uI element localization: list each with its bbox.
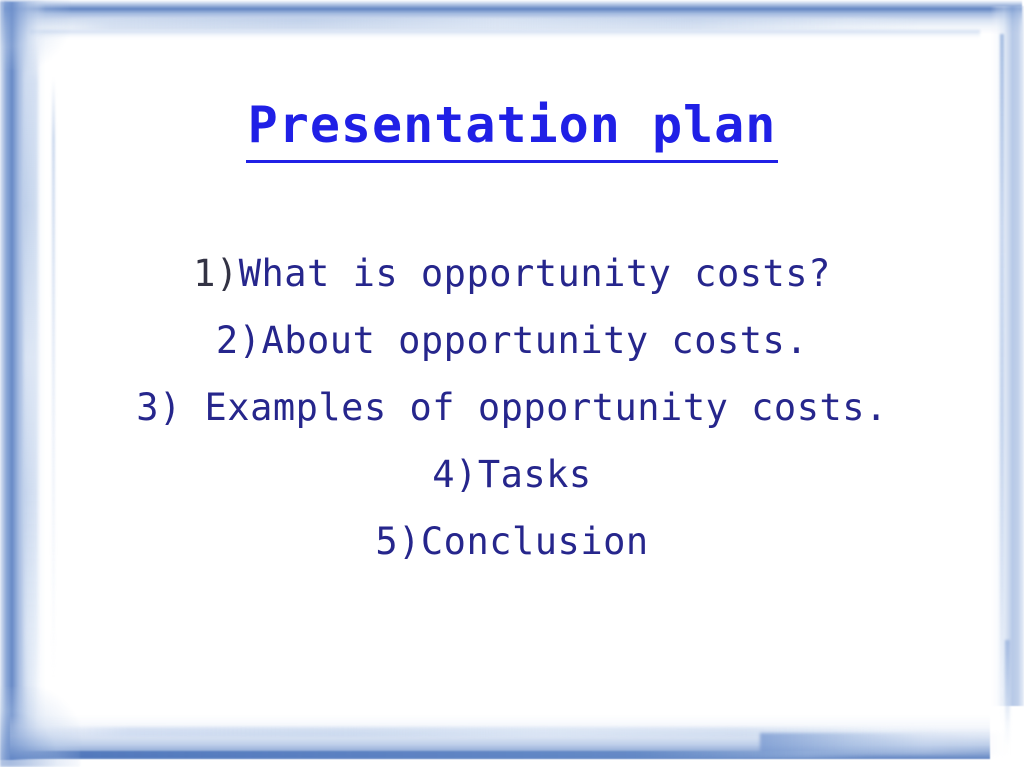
list-item-label: About opportunity costs. <box>261 319 808 362</box>
list-item: 2)About opportunity costs. <box>56 307 968 374</box>
frame-bottom-edge-line <box>16 751 876 758</box>
list-item-label: What is opportunity costs? <box>239 252 831 295</box>
slide-title-text: Presentation plan <box>246 96 779 163</box>
list-item-label: Examples of opportunity costs. <box>182 386 888 429</box>
frame-top-streak <box>40 18 920 30</box>
list-item-label: Tasks <box>478 453 592 496</box>
slide-content: Presentation plan 1)What is opportunity … <box>56 40 968 720</box>
list-item-label: Conclusion <box>421 520 649 563</box>
presentation-plan-list: 1)What is opportunity costs? 2)About opp… <box>56 240 968 575</box>
frame-left-hairline <box>52 78 55 678</box>
frame-bottom-streak <box>40 727 940 737</box>
frame-top-band <box>4 0 1022 34</box>
list-item-marker: 3) <box>136 386 182 429</box>
frame-right-hairline <box>1000 34 1004 724</box>
list-item: 3) Examples of opportunity costs. <box>56 374 968 441</box>
frame-left-band <box>0 2 46 760</box>
list-item: 4)Tasks <box>56 441 968 508</box>
list-item-marker: 4) <box>432 453 478 496</box>
list-item-marker: 5) <box>375 520 421 563</box>
frame-right-band <box>990 6 1024 706</box>
list-item: 5)Conclusion <box>56 508 968 575</box>
frame-top-inner-glow <box>30 30 980 39</box>
frame-bottom-tail-stroke <box>760 733 1010 755</box>
list-item-marker: 1) <box>193 252 239 295</box>
slide-title: Presentation plan <box>56 96 968 163</box>
list-item-marker: 2) <box>216 319 262 362</box>
frame-right-tail-stroke <box>1005 640 1010 748</box>
frame-left-streak <box>24 40 38 730</box>
frame-bottom-band <box>10 715 990 759</box>
presentation-slide: Presentation plan 1)What is opportunity … <box>0 0 1024 767</box>
list-item: 1)What is opportunity costs? <box>56 240 968 307</box>
